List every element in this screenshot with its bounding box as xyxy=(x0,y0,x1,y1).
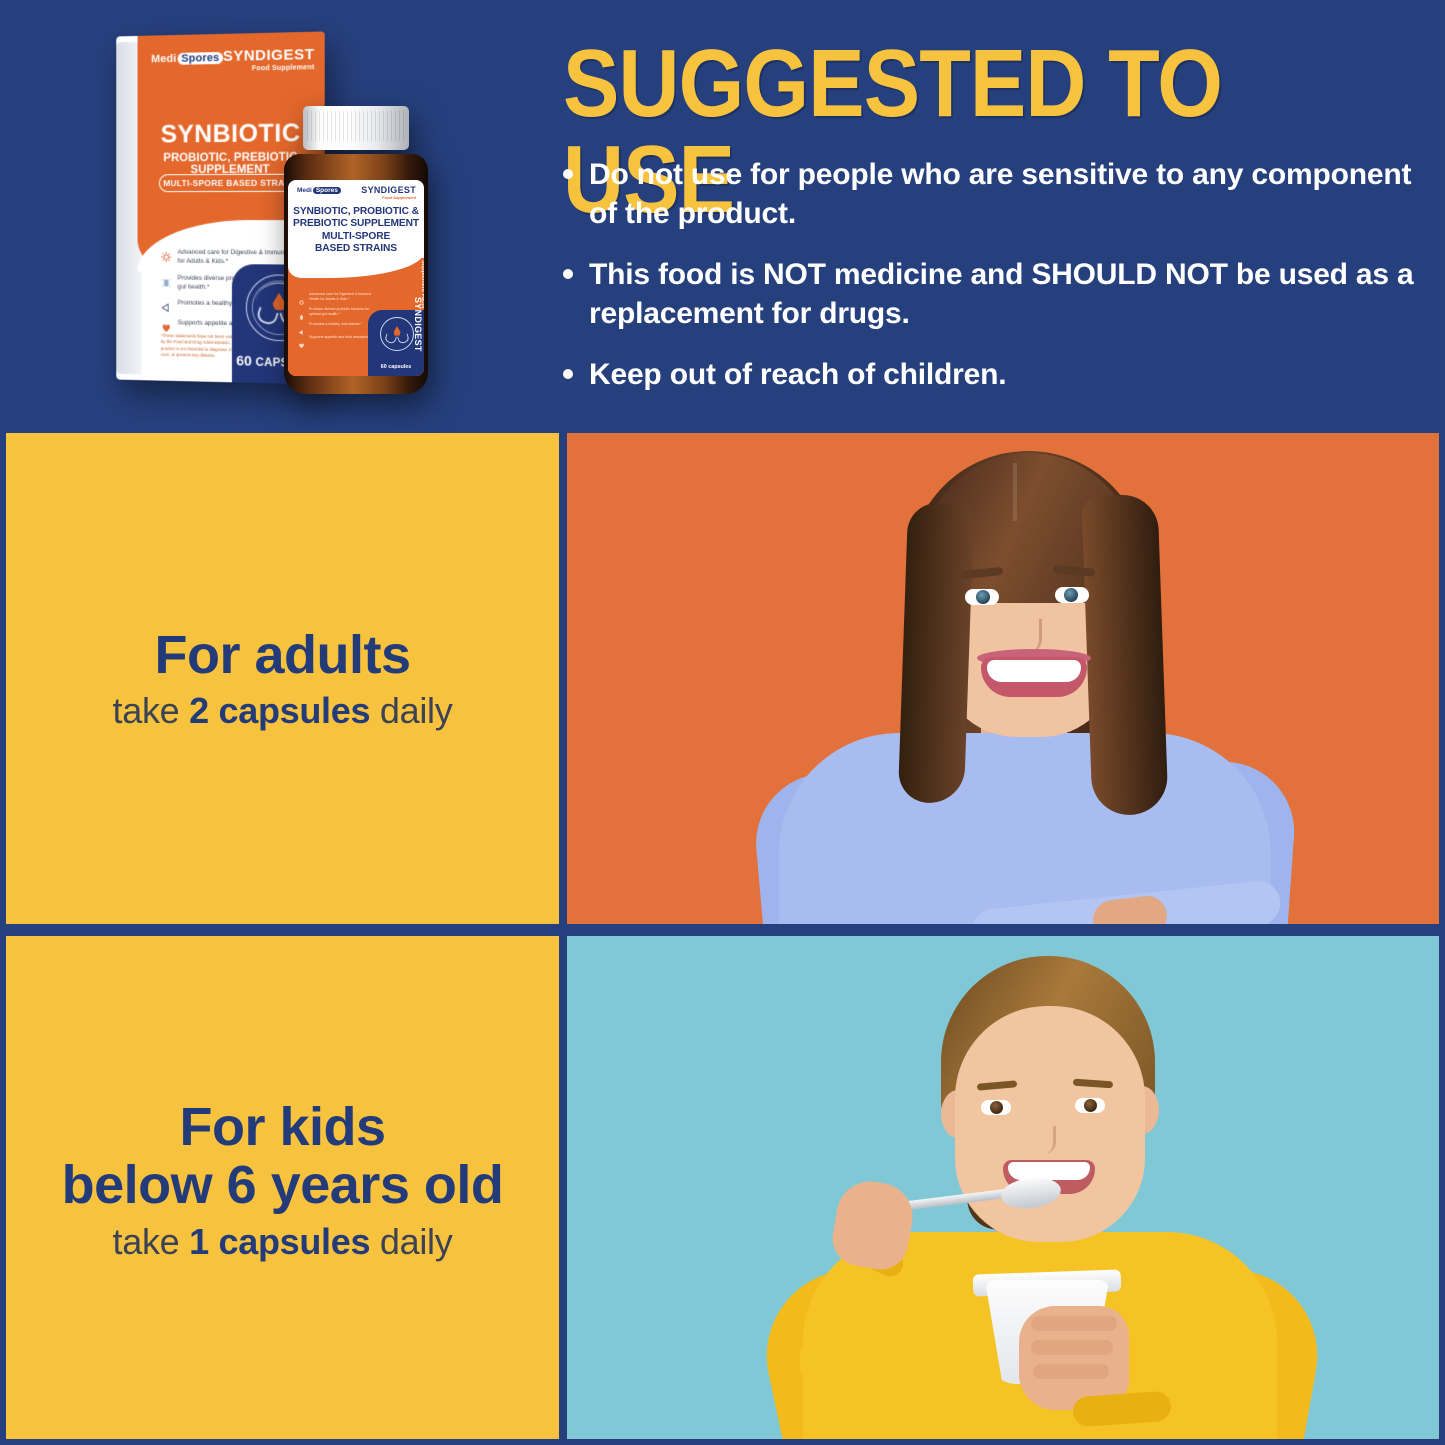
kids-heading-line2: below 6 years old xyxy=(6,1156,559,1214)
bottle-benefit-text: Provides diverse probiotic bacteria for … xyxy=(309,307,376,317)
warning-text: This food is NOT medicine and SHOULD NOT… xyxy=(589,255,1418,333)
warning-item: This food is NOT medicine and SHOULD NOT… xyxy=(563,255,1418,333)
adults-dose-line: take 2 capsules daily xyxy=(6,690,559,732)
kids-dose-line: take 1 capsules daily xyxy=(6,1221,559,1263)
bottle-capsule-count: 60 capsules xyxy=(368,364,424,370)
bottle-benefit-row: Provides diverse probiotic bacteria for … xyxy=(298,307,376,317)
carton-brand-logo: MediSpores xyxy=(151,52,223,65)
bottle-benefit-list: Advanced care for Digestive & Immune Hea… xyxy=(298,292,376,348)
digestive-icon xyxy=(298,293,305,300)
digestive-icon xyxy=(161,250,172,261)
microbiome-icon xyxy=(161,300,172,311)
smiling-child-photo xyxy=(773,950,1313,1439)
bottle-benefit-text: Supports appetite and food absorption.* xyxy=(309,335,372,343)
bullet-dot-icon xyxy=(563,269,573,279)
smiling-woman-photo xyxy=(763,443,1283,924)
bottle-title: SYNBIOTIC, PROBIOTIC & PREBIOTIC SUPPLEM… xyxy=(292,206,420,256)
bacteria-icon xyxy=(298,308,305,315)
daily-care-badge-icon xyxy=(380,317,414,351)
header-panel: MediSpores SYNDIGEST Food Supplement SYN… xyxy=(0,0,1445,427)
warning-item: Do not use for people who are sensitive … xyxy=(563,155,1418,233)
bottle-benefit-row: Advanced care for Digestive & Immune Hea… xyxy=(298,292,376,302)
warning-text: Do not use for people who are sensitive … xyxy=(589,155,1418,233)
bottle-benefit-text: Promotes a healthy microbiome.* xyxy=(309,322,362,330)
kids-heading-line1: For kids xyxy=(6,1098,559,1156)
warning-text: Keep out of reach of children. xyxy=(589,355,1006,394)
microbiome-icon xyxy=(298,323,305,330)
warning-item: Keep out of reach of children. xyxy=(563,355,1418,394)
warnings-list: Do not use for people who are sensitive … xyxy=(563,155,1418,416)
product-image-group: MediSpores SYNDIGEST Food Supplement SYN… xyxy=(96,18,496,408)
bottle-side-brand: SYNDIGEST xyxy=(413,297,423,352)
kids-dose-text: For kids below 6 years old take 1 capsul… xyxy=(6,1098,559,1263)
bottle-benefit-row: Promotes a healthy microbiome.* xyxy=(298,322,376,330)
bullet-dot-icon xyxy=(563,369,573,379)
kids-dose-panel: For kids below 6 years old take 1 capsul… xyxy=(6,936,559,1439)
kid-photo-panel xyxy=(567,936,1439,1439)
adult-photo-panel xyxy=(567,433,1439,924)
adults-heading: For adults xyxy=(6,626,559,684)
bottle-label: MediSpores SYNDIGEST Food Supplement SYN… xyxy=(288,180,424,376)
appetite-icon xyxy=(298,336,305,343)
bottle-cap xyxy=(303,106,409,150)
bacteria-icon xyxy=(161,275,172,286)
bottle-brand-logo: MediSpores xyxy=(297,187,341,194)
bottle-product-brand: SYNDIGEST Food Supplement xyxy=(361,185,416,200)
suggested-to-use-infographic: MediSpores SYNDIGEST Food Supplement SYN… xyxy=(0,0,1445,1445)
appetite-icon xyxy=(161,320,172,331)
bottle-benefit-text: Advanced care for Digestive & Immune Hea… xyxy=(309,292,376,302)
carton-product-brand: SYNDIGEST Food Supplement xyxy=(223,46,315,73)
adults-dose-panel: For adults take 2 capsules daily xyxy=(6,433,559,924)
adults-dose-text: For adults take 2 capsules daily xyxy=(6,626,559,732)
bullet-dot-icon xyxy=(563,169,573,179)
product-bottle: MediSpores SYNDIGEST Food Supplement SYN… xyxy=(278,106,434,394)
bottle-benefit-row: Supports appetite and food absorption.* xyxy=(298,335,376,343)
